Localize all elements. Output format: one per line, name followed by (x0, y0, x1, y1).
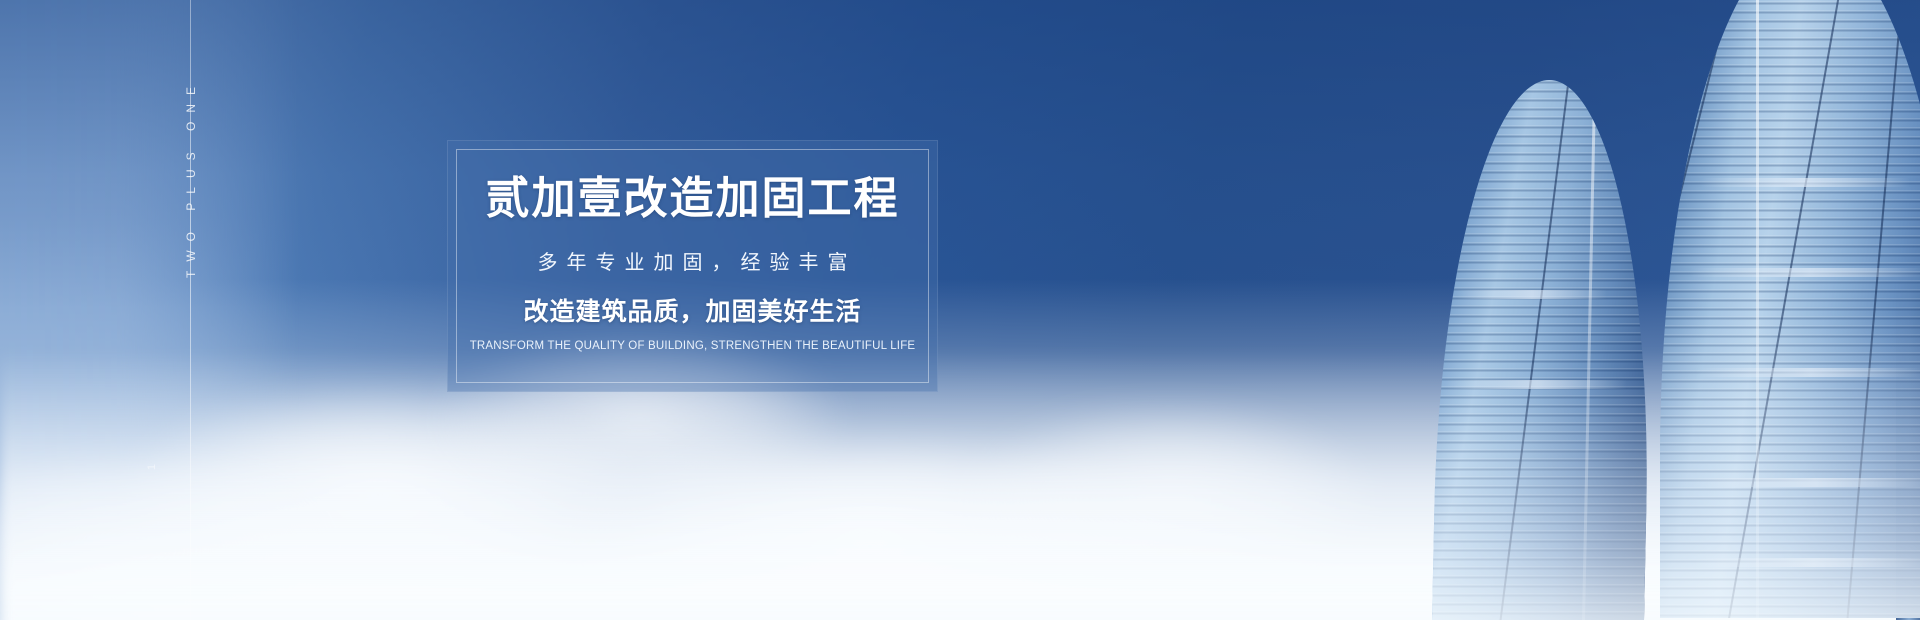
hero-text-panel: 贰加壹改造加固工程 多年专业加固，经验丰富 改造建筑品质，加固美好生活 TRAN… (447, 140, 938, 392)
hero-banner: TWO PLUS ONE 1 贰加壹改造加固工程 多年专业加固，经验丰富 改造建… (0, 0, 1920, 620)
skyline-towers (1140, 0, 1920, 620)
tower-right-lit-band-4 (1690, 478, 1920, 487)
tower-left-lit-band-1 (1457, 290, 1607, 299)
panel-content: 贰加壹改造加固工程 多年专业加固，经验丰富 改造建筑品质，加固美好生活 TRAN… (447, 174, 938, 353)
tower-left-floors (1432, 80, 1655, 620)
hero-subtitle: 多年专业加固，经验丰富 (447, 251, 938, 275)
hero-tagline-en: TRANSFORM THE QUALITY OF BUILDING, STREN… (447, 340, 938, 354)
tower-right (1660, 0, 1920, 618)
tower-right-floors (1660, 0, 1920, 618)
hero-title: 贰加壹改造加固工程 (447, 174, 938, 225)
tower-right-lit-band-5 (1694, 558, 1920, 567)
tower-left (1432, 80, 1655, 620)
hero-tagline-cn: 改造建筑品质，加固美好生活 (447, 297, 938, 327)
slide-index-mark: 1 (146, 462, 158, 470)
brand-vertical-label: TWO PLUS ONE (184, 78, 198, 278)
tower-right-lit-band-1 (1700, 178, 1910, 187)
tower-left-lit-band-2 (1447, 380, 1627, 389)
tower-right-lit-band-2 (1690, 268, 1920, 277)
tower-right-highlight-edge (1756, 0, 1759, 618)
tower-right-lit-band-3 (1696, 368, 1920, 377)
